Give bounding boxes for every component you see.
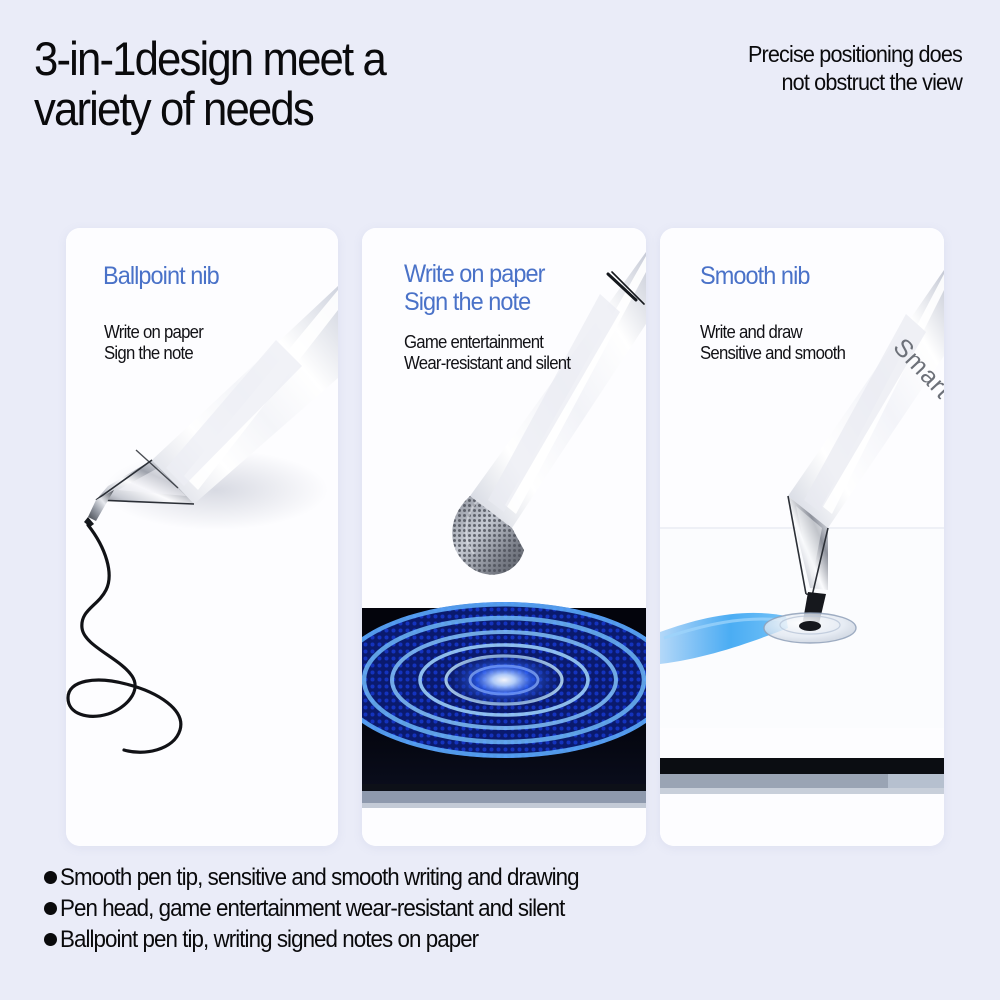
bullet-item: Pen head, game entertainment wear-resist… bbox=[44, 893, 944, 924]
bullet-label: Smooth pen tip, sensitive and smooth wri… bbox=[60, 862, 579, 893]
card-body: Game entertainment Wear-resistant and si… bbox=[404, 332, 629, 374]
bullet-item: Smooth pen tip, sensitive and smooth wri… bbox=[44, 862, 944, 893]
feature-card-write-on-paper[interactable]: Write on paper Sign the note Game entert… bbox=[362, 228, 646, 846]
feature-card-list: Ballpoint nib Write on paper Sign the no… bbox=[0, 228, 1000, 846]
feature-card-smooth-nib[interactable]: Smart Smoot bbox=[660, 228, 944, 846]
page-title: 3-in-1design meet a variety of needs bbox=[34, 34, 592, 135]
bullet-label: Pen head, game entertainment wear-resist… bbox=[60, 893, 564, 924]
feature-card-ballpoint-nib[interactable]: Ballpoint nib Write on paper Sign the no… bbox=[66, 228, 338, 846]
bullet-label: Ballpoint pen tip, writing signed notes … bbox=[60, 924, 478, 955]
bullet-item: Ballpoint pen tip, writing signed notes … bbox=[44, 924, 944, 955]
card-heading: Ballpoint nib bbox=[103, 262, 324, 290]
bullet-dot-icon bbox=[44, 902, 57, 915]
page-subtitle: Precise positioning does not obstruct th… bbox=[642, 40, 962, 96]
page-header: 3-in-1design meet a variety of needs Pre… bbox=[0, 0, 1000, 200]
card-text-block: Ballpoint nib Write on paper Sign the no… bbox=[66, 228, 338, 364]
feature-bullet-list: Smooth pen tip, sensitive and smooth wri… bbox=[44, 862, 944, 956]
card-heading: Smooth nib bbox=[700, 262, 929, 290]
card-body: Write on paper Sign the note bbox=[104, 322, 322, 364]
card-body: Write and draw Sensitive and smooth bbox=[700, 322, 927, 364]
card-text-block: Write on paper Sign the note Game entert… bbox=[362, 228, 646, 374]
card-heading: Write on paper Sign the note bbox=[404, 260, 631, 316]
bullet-dot-icon bbox=[44, 933, 57, 946]
card-text-block: Smooth nib Write and draw Sensitive and … bbox=[660, 228, 944, 364]
bullet-dot-icon bbox=[44, 871, 57, 884]
